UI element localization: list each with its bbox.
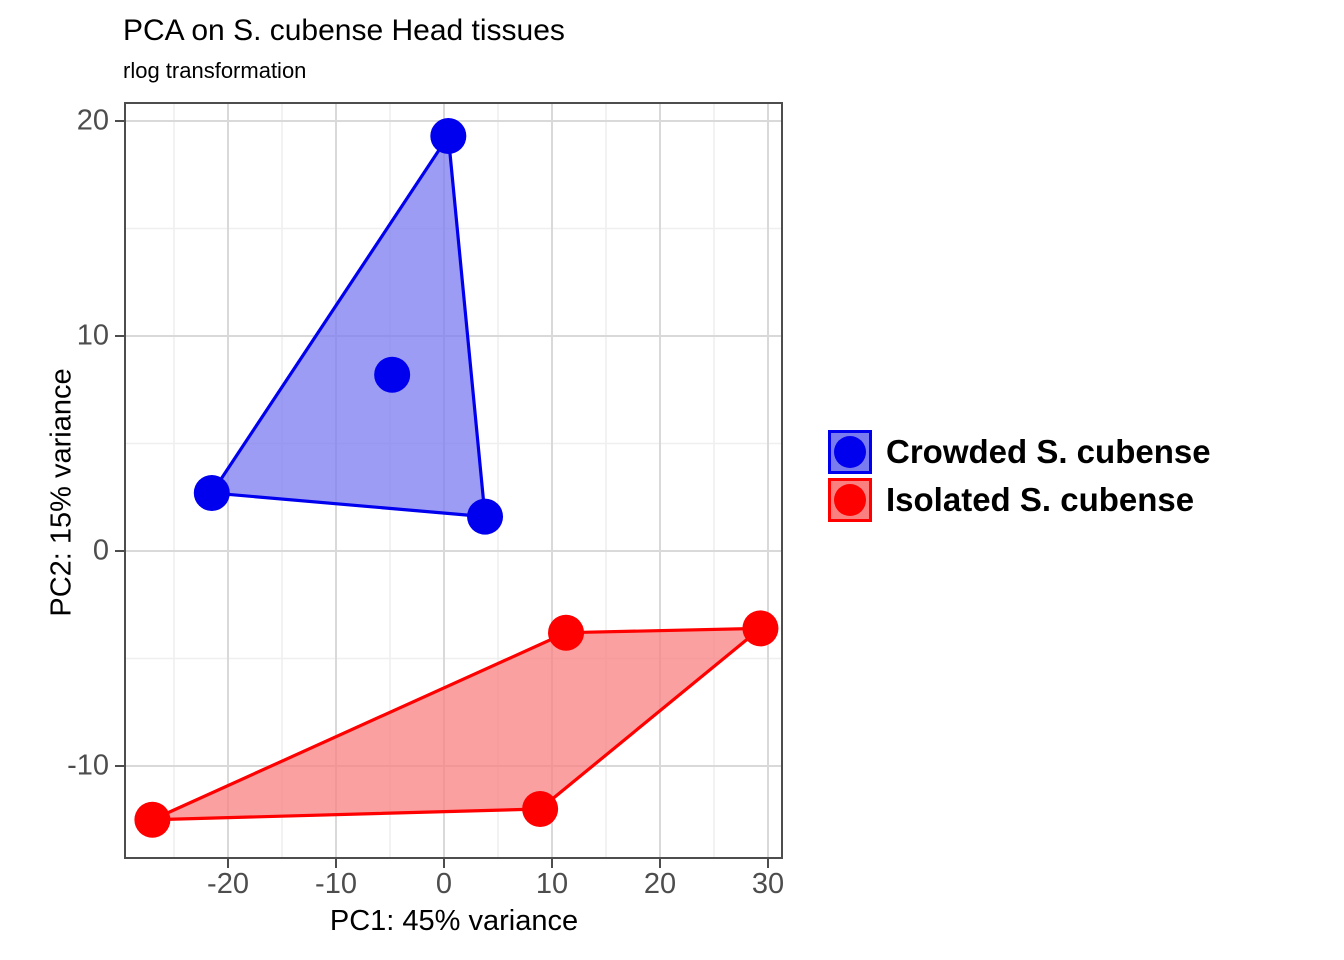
plot-panel (124, 102, 783, 859)
legend-key-point-icon (834, 484, 866, 516)
legend-key-point-icon (834, 436, 866, 468)
data-point-0-0[interactable] (430, 118, 466, 154)
legend: Crowded S. cubenseIsolated S. cubense (828, 428, 1211, 524)
y-tick-label: 20 (77, 105, 109, 138)
legend-key-swatch (828, 478, 872, 522)
data-point-1-0[interactable] (548, 615, 584, 651)
legend-item-1[interactable]: Isolated S. cubense (828, 476, 1211, 524)
data-point-0-1[interactable] (374, 357, 410, 393)
data-point-0-2[interactable] (194, 475, 230, 511)
data-point-1-3[interactable] (134, 802, 170, 838)
x-tick-label: 10 (536, 868, 568, 901)
pca-plot-figure: PCA on S. cubense Head tissues rlog tran… (0, 0, 1344, 960)
y-tick-label: 10 (77, 320, 109, 353)
x-tickmark (335, 859, 337, 868)
plot-subtitle: rlog transformation (123, 58, 306, 84)
data-point-0-3[interactable] (467, 499, 503, 535)
y-tickmark (115, 550, 124, 552)
x-tickmark (767, 859, 769, 868)
cluster-hull-1 (152, 628, 760, 819)
plot-canvas (126, 104, 781, 857)
y-tickmark (115, 335, 124, 337)
legend-item-0[interactable]: Crowded S. cubense (828, 428, 1211, 476)
x-tickmark (443, 859, 445, 868)
x-tick-label: -20 (207, 868, 249, 901)
x-tickmark (659, 859, 661, 868)
y-tickmark (115, 765, 124, 767)
legend-item-label: Crowded S. cubense (886, 433, 1211, 471)
x-tick-label: -10 (315, 868, 357, 901)
x-tick-label: 0 (436, 868, 452, 901)
data-point-1-2[interactable] (522, 791, 558, 827)
y-tickmark (115, 120, 124, 122)
cluster-hull-0 (212, 136, 485, 517)
legend-item-label: Isolated S. cubense (886, 481, 1194, 519)
x-tick-label: 30 (752, 868, 784, 901)
y-tick-label: 0 (93, 535, 109, 568)
data-point-1-1[interactable] (742, 610, 778, 646)
page-title: PCA on S. cubense Head tissues (123, 14, 565, 48)
x-tick-label: 20 (644, 868, 676, 901)
y-axis-title: PC2: 15% variance (46, 113, 79, 873)
x-axis-title: PC1: 45% variance (124, 905, 784, 938)
x-tickmark (227, 859, 229, 868)
legend-key-swatch (828, 430, 872, 474)
x-tickmark (551, 859, 553, 868)
